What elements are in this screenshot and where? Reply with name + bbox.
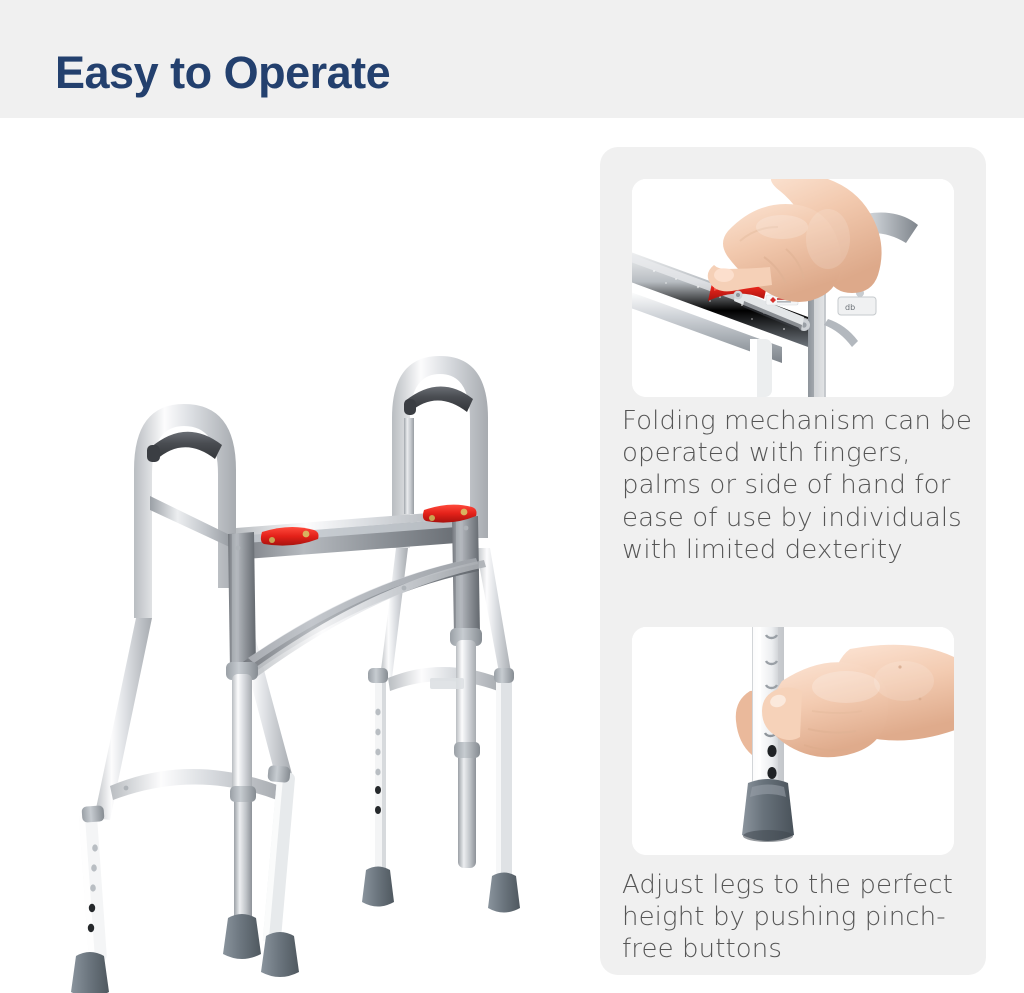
height-adjust-photo	[632, 627, 954, 855]
hand-on-lever-illustration: db	[632, 179, 954, 397]
svg-text:db: db	[845, 303, 855, 312]
frame-rivets	[124, 526, 469, 791]
folding-mechanism-photo: db	[632, 179, 954, 397]
feature-panel: db	[600, 147, 986, 975]
walker-front-frame	[71, 404, 299, 993]
caption-folding-mechanism: Folding mechanism can be operated with f…	[622, 405, 974, 566]
push-button-upper	[767, 745, 776, 757]
walker-rear-frame	[362, 356, 520, 913]
caption-height-adjust: Adjust legs to the perfect height by pus…	[622, 869, 974, 966]
push-button-lower	[767, 767, 776, 779]
walker-crossbar-assembly	[223, 510, 486, 959]
hand-on-button-illustration	[632, 627, 954, 855]
hero-product-photo	[0, 118, 600, 993]
rubber-tip	[742, 779, 794, 842]
page-title: Easy to Operate	[55, 50, 390, 95]
walker-illustration	[0, 118, 600, 993]
product-label	[430, 678, 464, 689]
